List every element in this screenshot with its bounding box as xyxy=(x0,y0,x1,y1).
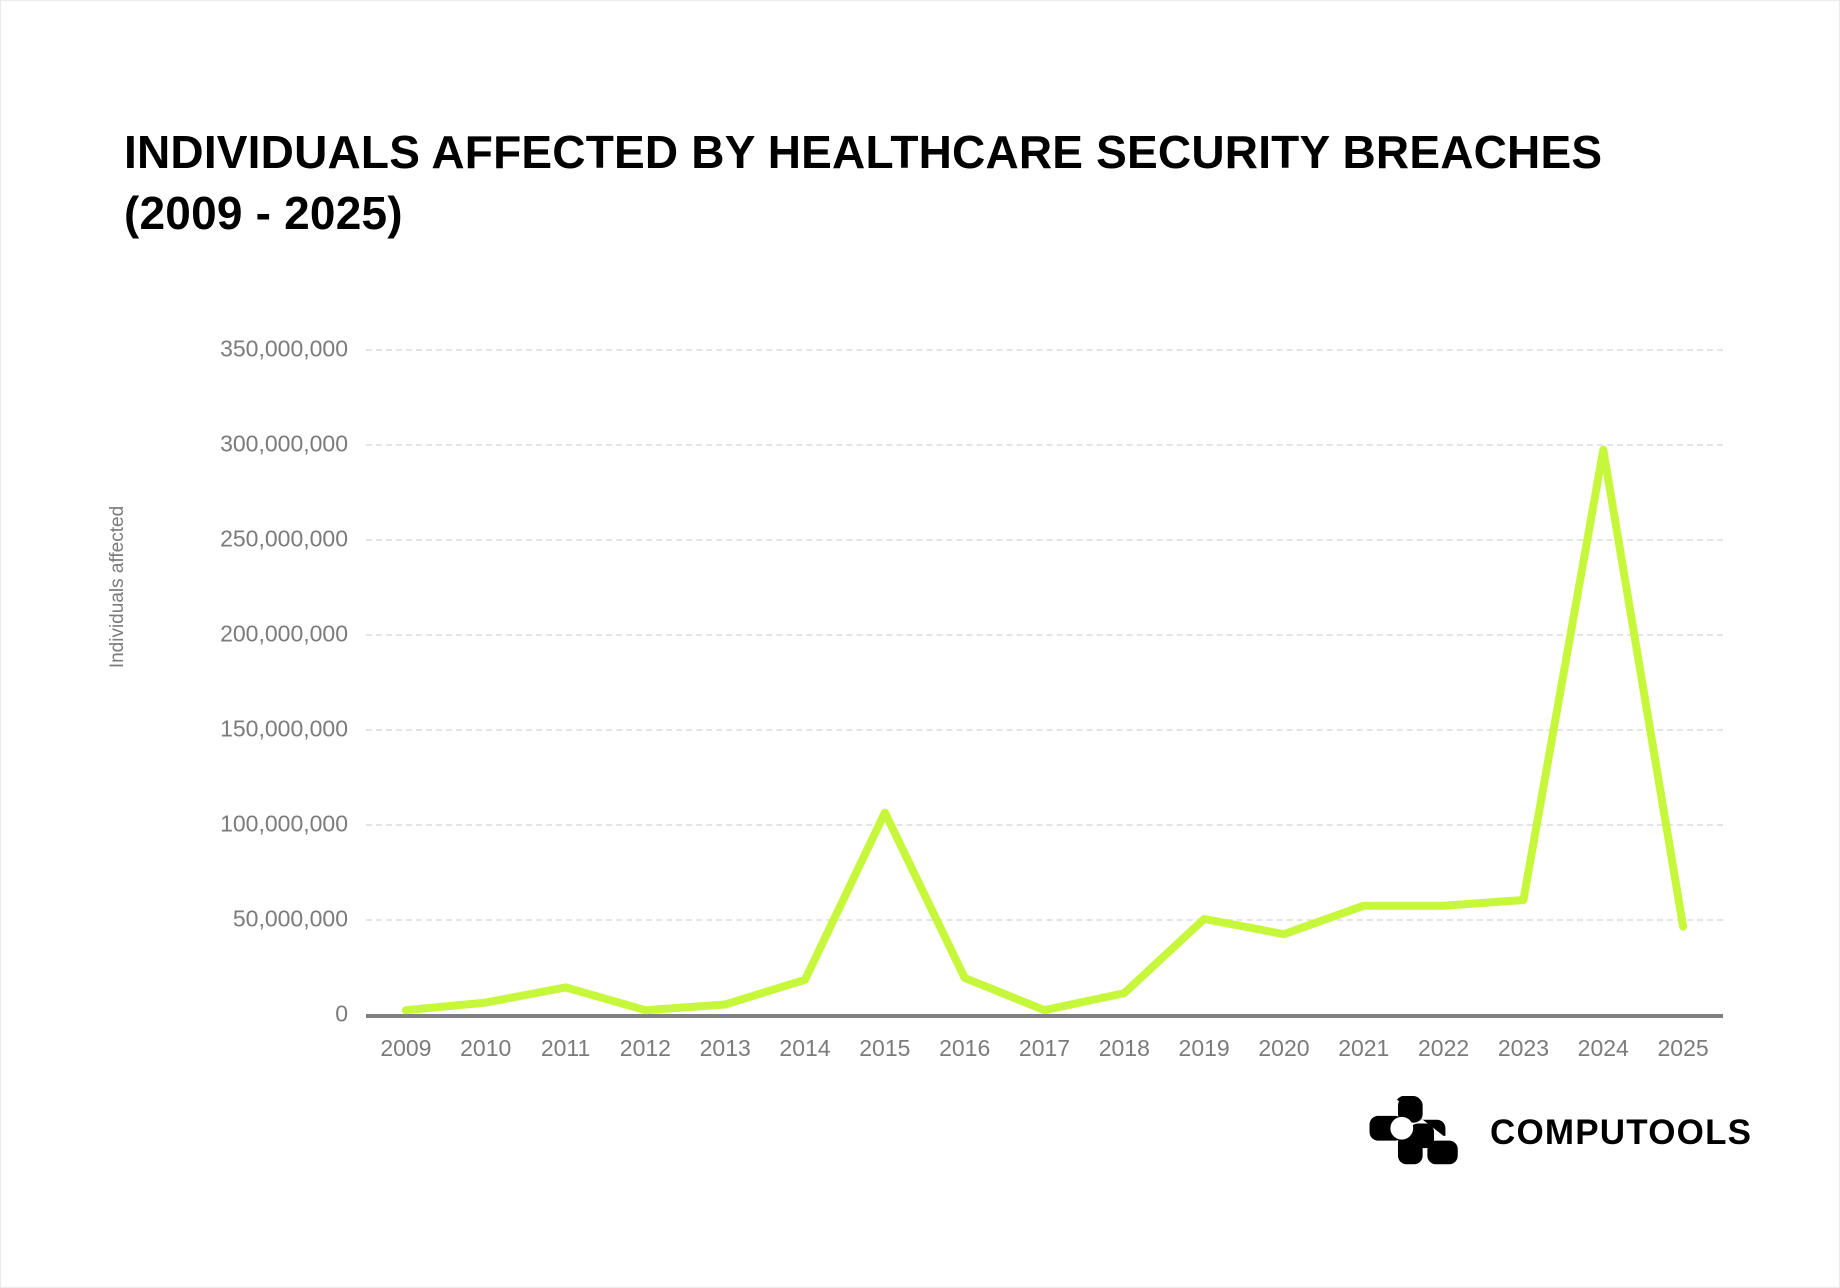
line-chart-plot-area: Individuals affected 050,000,000100,000,… xyxy=(0,0,1840,1288)
x-axis-tick-labels: 2009201020112012201320142015201620172018… xyxy=(0,0,1840,1288)
brand-logo: COMPUTOOLS xyxy=(1368,1096,1752,1170)
x-axis-tick-label: 2025 xyxy=(1623,1035,1743,1062)
brand-name: COMPUTOOLS xyxy=(1490,1113,1752,1153)
chart-page: INDIVIDUALS AFFECTED BY HEALTHCARE SECUR… xyxy=(0,0,1840,1288)
computools-logo-icon xyxy=(1368,1096,1464,1170)
